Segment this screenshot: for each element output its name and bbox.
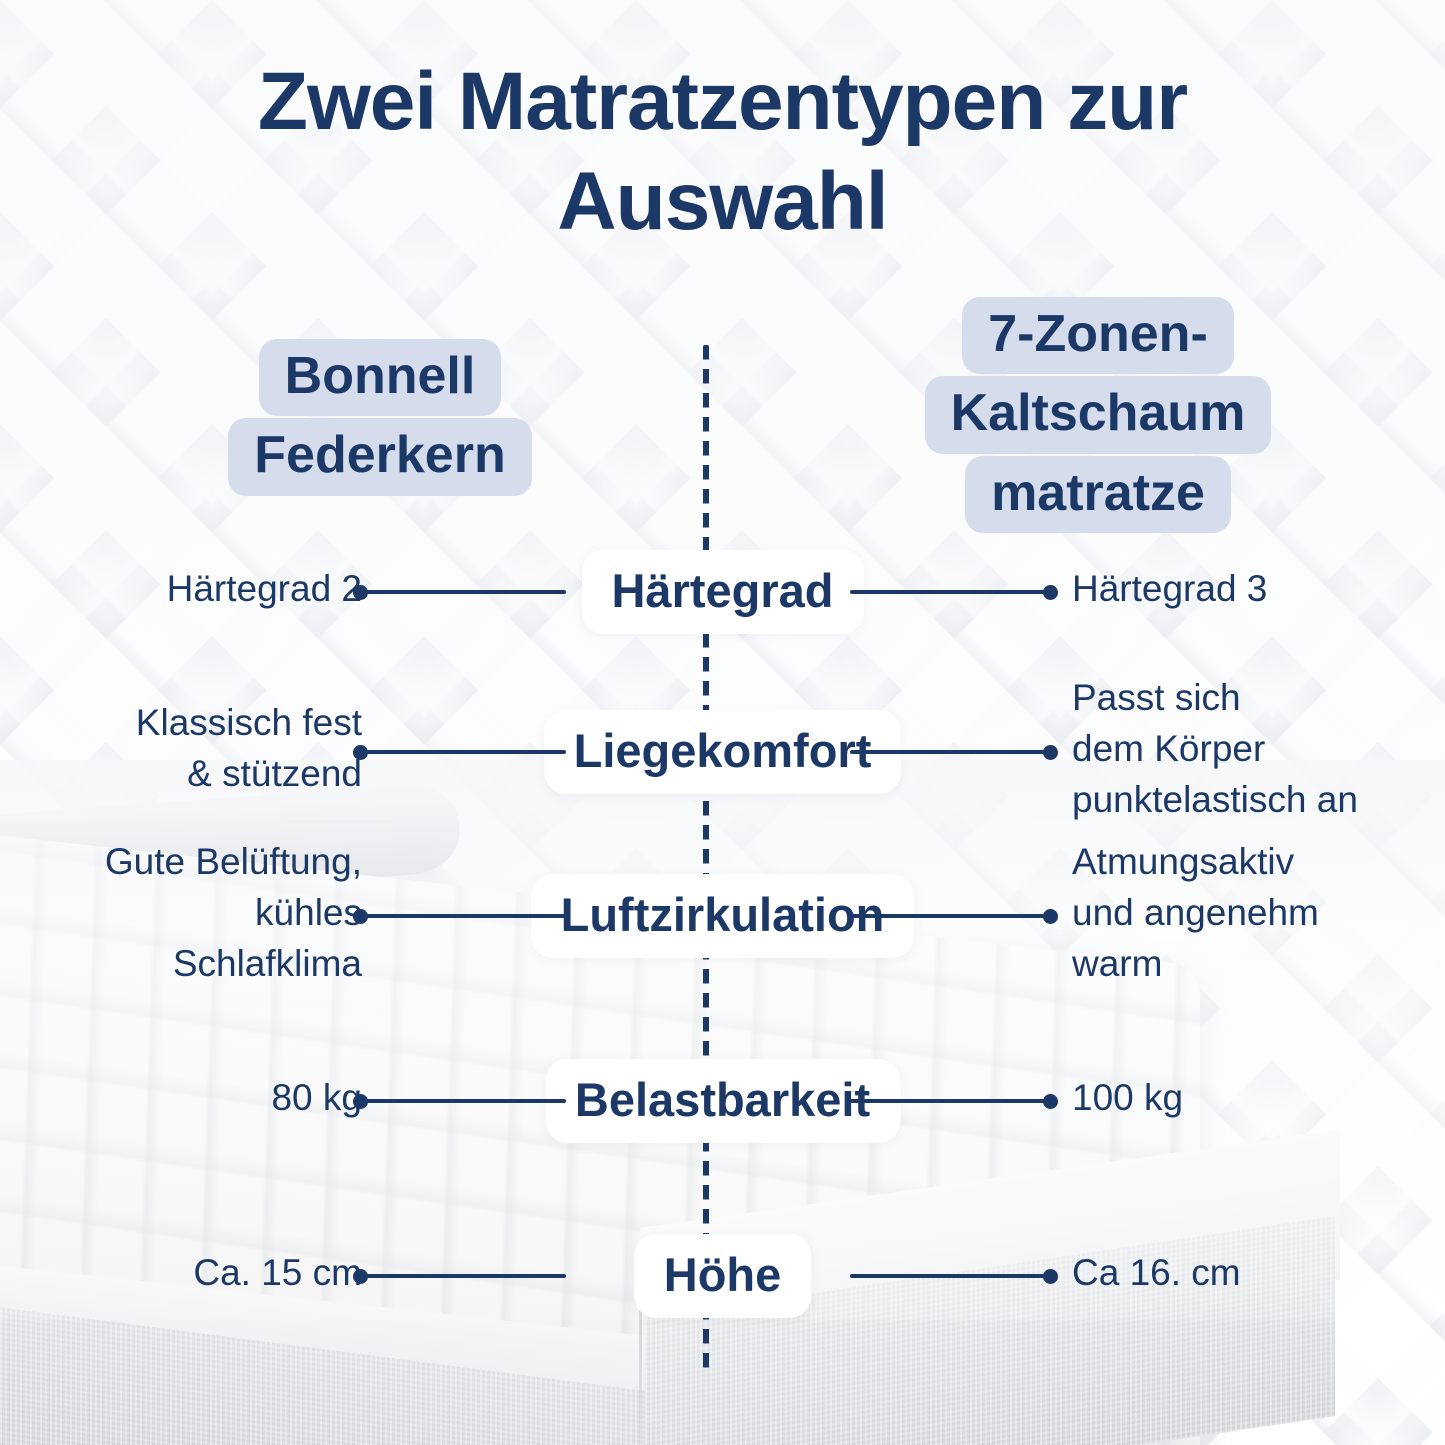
row-label-right: 100 kg bbox=[1072, 1072, 1183, 1123]
row-label-left: Klassisch fest& stützend bbox=[136, 697, 362, 799]
row-label-right-line: Passt sich bbox=[1072, 672, 1358, 723]
column-header-right-line-1: 7-Zonen- bbox=[962, 297, 1234, 374]
page-title-line-2: Auswahl bbox=[0, 152, 1445, 252]
row-center-label: Höhe bbox=[634, 1234, 812, 1318]
column-header-right-line-3: matratze bbox=[965, 456, 1231, 533]
row-label-right-line: Härtegrad 3 bbox=[1072, 563, 1267, 614]
connector-line-left bbox=[366, 590, 566, 594]
column-header-left-line-1: Bonnell bbox=[259, 339, 502, 416]
row-label-left-line: & stützend bbox=[136, 748, 362, 799]
column-header-left-line-2: Federkern bbox=[228, 418, 531, 495]
connector-dot-right bbox=[1043, 1094, 1058, 1109]
connector-line-right bbox=[850, 750, 1050, 754]
page-title: Zwei Matratzentypen zur Auswahl bbox=[0, 52, 1445, 252]
connector-dot-right bbox=[1043, 1269, 1058, 1284]
row-label-left-line: Ca. 15 cm bbox=[193, 1247, 362, 1298]
center-dashed-divider bbox=[703, 345, 709, 1373]
row-center-label: Liegekomfort bbox=[544, 710, 902, 794]
row-label-left-line: kühles bbox=[105, 887, 362, 938]
row-center-label: Härtegrad bbox=[581, 550, 863, 634]
row-label-left: 80 kg bbox=[271, 1072, 362, 1123]
connector-line-right bbox=[850, 1099, 1050, 1103]
row-label-right-line: punktelastisch an bbox=[1072, 774, 1358, 825]
row-label-left: Härtegrad 2 bbox=[167, 563, 362, 614]
connector-dot-right bbox=[1043, 909, 1058, 924]
row-label-left: Gute Belüftung,kühlesSchlafklima bbox=[105, 836, 362, 989]
column-header-right: 7-Zonen- Kaltschaum matratze bbox=[888, 296, 1308, 534]
connector-line-left bbox=[366, 750, 566, 754]
row-label-left-line: Gute Belüftung, bbox=[105, 836, 362, 887]
row-label-left-line: Schlafklima bbox=[105, 938, 362, 989]
row-label-left-line: Klassisch fest bbox=[136, 697, 362, 748]
connector-line-left bbox=[366, 1099, 566, 1103]
row-label-left-line: 80 kg bbox=[271, 1072, 362, 1123]
connector-line-right bbox=[850, 914, 1050, 918]
row-label-right-line: Atmungsaktiv bbox=[1072, 836, 1319, 887]
row-label-right-line: Ca 16. cm bbox=[1072, 1247, 1241, 1298]
connector-line-right bbox=[850, 590, 1050, 594]
row-label-right: Ca 16. cm bbox=[1072, 1247, 1241, 1298]
row-center-label: Belastbarkeit bbox=[545, 1059, 900, 1143]
row-label-left: Ca. 15 cm bbox=[193, 1247, 362, 1298]
page-title-line-1: Zwei Matratzentypen zur bbox=[0, 52, 1445, 152]
row-label-right-line: und angenehm bbox=[1072, 887, 1319, 938]
row-label-right: Atmungsaktivund angenehmwarm bbox=[1072, 836, 1319, 989]
column-header-right-line-2: Kaltschaum bbox=[925, 376, 1272, 453]
column-header-left: Bonnell Federkern bbox=[190, 338, 570, 497]
row-label-right-line: 100 kg bbox=[1072, 1072, 1183, 1123]
connector-line-left bbox=[366, 1274, 566, 1278]
row-label-right: Passt sichdem Körperpunktelastisch an bbox=[1072, 672, 1358, 825]
connector-dot-right bbox=[1043, 585, 1058, 600]
infographic-canvas: Zwei Matratzentypen zur Auswahl Bonnell … bbox=[0, 0, 1445, 1445]
connector-line-right bbox=[850, 1274, 1050, 1278]
row-label-left-line: Härtegrad 2 bbox=[167, 563, 362, 614]
connector-line-left bbox=[366, 914, 566, 918]
row-label-right-line: warm bbox=[1072, 938, 1319, 989]
infographic-content: Zwei Matratzentypen zur Auswahl Bonnell … bbox=[0, 0, 1445, 1445]
connector-dot-right bbox=[1043, 745, 1058, 760]
row-label-right-line: dem Körper bbox=[1072, 723, 1358, 774]
row-label-right: Härtegrad 3 bbox=[1072, 563, 1267, 614]
